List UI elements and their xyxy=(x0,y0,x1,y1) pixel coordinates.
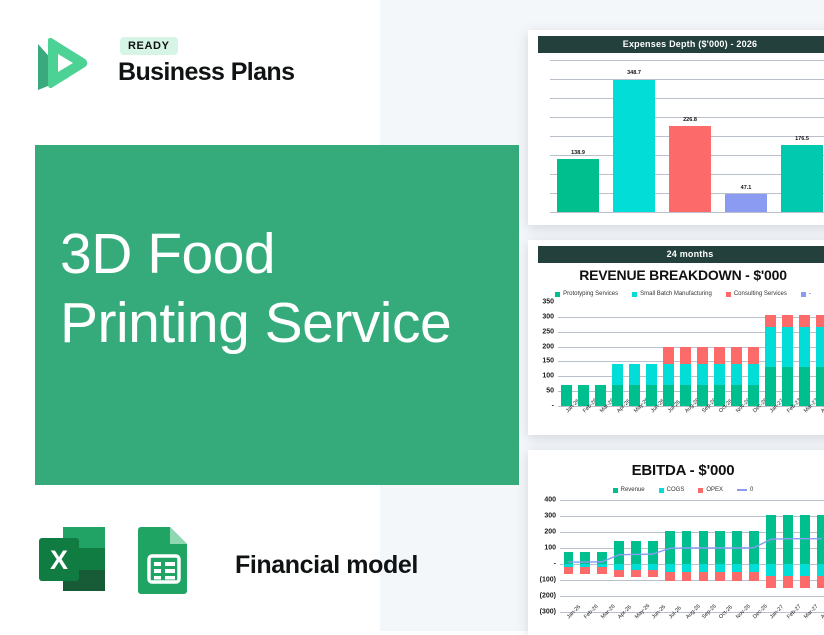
stacked-bar-2 xyxy=(595,302,605,406)
expenses-chart-header: Expenses Depth ($'000) - 2026 xyxy=(538,36,824,53)
legend-item-1: Small Batch Manufacturing xyxy=(632,291,712,297)
chart-card-ebitda[interactable]: EBITDA - $'000 RevenueCOGSOPEX0 40030020… xyxy=(528,450,824,635)
legend-swatch-3 xyxy=(737,489,747,491)
stacked-bar-10 xyxy=(731,302,741,406)
legend-label-0: Revenue xyxy=(621,487,645,493)
bar-0 xyxy=(557,159,598,212)
stack-seg-2 xyxy=(748,347,758,364)
legend-label-3: - xyxy=(809,291,811,297)
y-tick-5: 100 xyxy=(542,373,554,380)
stack-seg-1 xyxy=(629,364,639,385)
stack-seg-1 xyxy=(731,364,741,385)
stack-seg-0 xyxy=(816,367,824,406)
y-tick-6: 50 xyxy=(546,388,554,395)
y-tick-1: 300 xyxy=(544,513,556,520)
page-title-line-1: 3D Food xyxy=(60,220,500,289)
stack-seg-1 xyxy=(799,327,809,367)
footer-label: Financial model xyxy=(235,551,418,580)
stacked-bar-9 xyxy=(714,302,724,406)
bar-label-1: 348.7 xyxy=(627,70,641,76)
legend-label-1: Small Batch Manufacturing xyxy=(640,291,712,297)
legend-label-1: COGS xyxy=(667,487,685,493)
stack-seg-1 xyxy=(714,364,724,385)
ebitda-line-series xyxy=(560,500,824,612)
stack-seg-2 xyxy=(765,315,775,327)
stack-seg-0 xyxy=(782,367,792,406)
bar-1 xyxy=(613,80,654,213)
stacked-bar-8 xyxy=(697,302,707,406)
legend-item-0: Prototyping Services xyxy=(555,291,618,297)
legend-swatch-1 xyxy=(632,292,637,297)
y-tick-7: (300) xyxy=(540,609,556,616)
hero-banner: 3D Food Printing Service xyxy=(35,145,519,485)
stacked-bar-6 xyxy=(663,302,673,406)
revenue-chart-header: 24 months xyxy=(538,246,824,263)
brand-logo: READY Business Plans xyxy=(28,28,358,104)
bar-3 xyxy=(725,194,766,212)
svg-text:X: X xyxy=(50,545,68,575)
gridline-8 xyxy=(550,212,824,213)
stack-seg-1 xyxy=(680,364,690,385)
stack-seg-0 xyxy=(731,385,741,406)
legend-label-2: OPEX xyxy=(706,487,723,493)
microsoft-excel-icon: X xyxy=(35,522,109,596)
stacked-bar-14 xyxy=(799,302,809,406)
stack-seg-2 xyxy=(816,315,824,327)
legend-swatch-1 xyxy=(659,488,664,493)
stack-seg-1 xyxy=(782,327,792,367)
gridline-0 xyxy=(550,60,824,61)
google-sheets-icon xyxy=(127,522,201,596)
stack-seg-2 xyxy=(680,347,690,364)
stack-seg-2 xyxy=(799,315,809,327)
stack-seg-0 xyxy=(714,385,724,406)
y-tick-5: (100) xyxy=(540,577,556,584)
y-tick-7: - xyxy=(552,403,554,410)
chart-card-revenue[interactable]: 24 months REVENUE BREAKDOWN - $'000 Prot… xyxy=(528,240,824,435)
bar-label-3: 47.1 xyxy=(741,185,752,191)
stack-seg-0 xyxy=(663,385,673,406)
bar-4 xyxy=(781,145,822,212)
stacked-bar-0 xyxy=(561,302,571,406)
legend-item-0: Revenue xyxy=(613,487,645,493)
bar-label-4: 176.5 xyxy=(795,136,809,142)
y-tick-0: 350 xyxy=(542,299,554,306)
y-tick-6: (200) xyxy=(540,593,556,600)
stack-seg-2 xyxy=(731,347,741,364)
stack-seg-0 xyxy=(578,385,588,406)
bar-2 xyxy=(669,126,710,212)
stack-seg-1 xyxy=(816,327,824,367)
y-tick-0: 400 xyxy=(544,497,556,504)
chart-card-expenses[interactable]: Expenses Depth ($'000) - 2026 138.9348.7… xyxy=(528,30,824,225)
stacked-bar-11 xyxy=(748,302,758,406)
legend-swatch-3 xyxy=(801,292,806,297)
y-tick-4: 150 xyxy=(542,358,554,365)
stack-seg-0 xyxy=(629,385,639,406)
y-tick-3: 200 xyxy=(542,343,554,350)
legend-item-3: 0 xyxy=(737,487,753,493)
stack-seg-2 xyxy=(782,315,792,327)
legend-label-2: Consulting Services xyxy=(734,291,787,297)
stack-seg-0 xyxy=(612,385,622,406)
stack-seg-1 xyxy=(612,364,622,385)
stacked-bar-1 xyxy=(578,302,588,406)
gridline-1 xyxy=(550,79,824,80)
stacked-bar-12 xyxy=(765,302,775,406)
legend-swatch-0 xyxy=(613,488,618,493)
stack-seg-1 xyxy=(663,364,673,385)
legend-swatch-2 xyxy=(726,292,731,297)
stack-seg-1 xyxy=(748,364,758,385)
stack-seg-0 xyxy=(799,367,809,406)
legend-item-3: - xyxy=(801,291,811,297)
stack-seg-0 xyxy=(680,385,690,406)
ebitda-chart-legend: RevenueCOGSOPEX0 xyxy=(528,484,824,496)
legend-swatch-2 xyxy=(698,488,703,493)
stacked-bar-15 xyxy=(816,302,824,406)
stack-seg-1 xyxy=(697,364,707,385)
stack-seg-2 xyxy=(714,347,724,364)
y-tick-1: 300 xyxy=(542,313,554,320)
revenue-chart-legend: Prototyping ServicesSmall Batch Manufact… xyxy=(528,288,824,300)
y-tick-2: 250 xyxy=(542,328,554,335)
legend-item-1: COGS xyxy=(659,487,685,493)
brand-name: Business Plans xyxy=(118,58,294,87)
stacked-bar-4 xyxy=(629,302,639,406)
stack-seg-0 xyxy=(561,385,571,406)
stack-seg-2 xyxy=(663,347,673,364)
y-tick-4: - xyxy=(554,561,556,568)
legend-item-2: Consulting Services xyxy=(726,291,787,297)
stacked-bar-5 xyxy=(646,302,656,406)
page-title: 3D Food Printing Service xyxy=(60,220,500,358)
legend-label-0: Prototyping Services xyxy=(563,291,618,297)
y-tick-2: 200 xyxy=(544,529,556,536)
ready-badge: READY xyxy=(120,37,178,55)
stacked-bar-13 xyxy=(782,302,792,406)
revenue-chart-plot: 35030025020015010050-Jan-26Feb-26Mar-26A… xyxy=(558,302,824,406)
stack-seg-0 xyxy=(765,367,775,406)
bar-label-2: 226.8 xyxy=(683,117,697,123)
stack-seg-2 xyxy=(697,347,707,364)
stack-seg-0 xyxy=(595,385,605,406)
legend-item-2: OPEX xyxy=(698,487,723,493)
gridline-2 xyxy=(550,98,824,99)
stack-seg-0 xyxy=(697,385,707,406)
stacked-bar-7 xyxy=(680,302,690,406)
legend-swatch-0 xyxy=(555,292,560,297)
ebitda-chart-title: EBITDA - $'000 xyxy=(528,462,824,480)
play-triangle-logo-icon xyxy=(28,32,96,100)
expenses-chart-plot: 138.9348.7226.847.1176.5 xyxy=(550,60,824,212)
stack-seg-1 xyxy=(765,327,775,367)
legend-label-3: 0 xyxy=(750,487,753,493)
page-title-line-2: Printing Service xyxy=(60,289,500,358)
stack-seg-0 xyxy=(646,385,656,406)
stacked-bar-3 xyxy=(612,302,622,406)
stack-seg-0 xyxy=(748,385,758,406)
y-tick-3: 100 xyxy=(544,545,556,552)
revenue-chart-title: REVENUE BREAKDOWN - $'000 xyxy=(528,267,824,285)
bar-label-0: 138.9 xyxy=(571,150,585,156)
ebitda-chart-plot: 400300200100-(100)(200)(300)Jan-26Feb-26… xyxy=(560,500,824,612)
stack-seg-1 xyxy=(646,364,656,385)
